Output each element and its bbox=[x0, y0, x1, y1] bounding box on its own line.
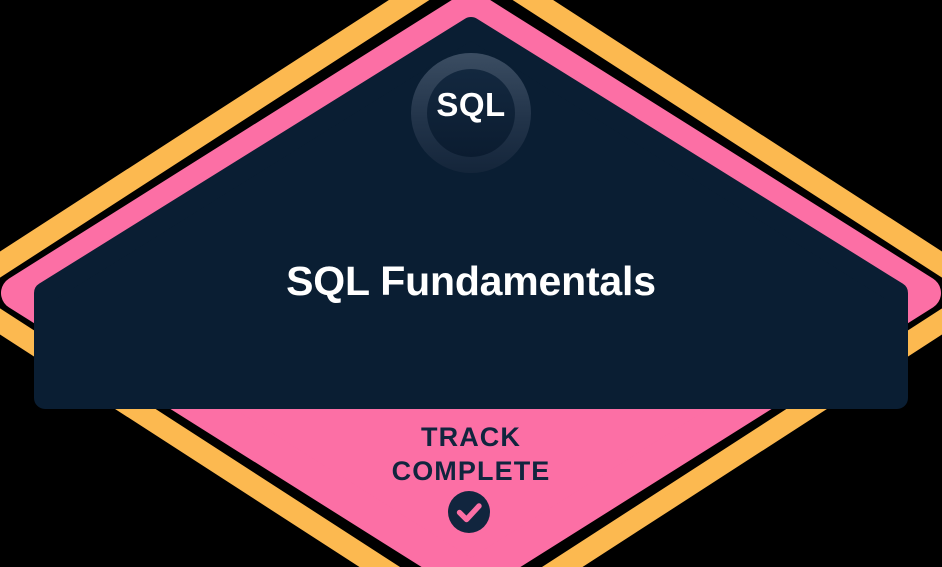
achievement-badge: SQL SQL Fundamentals TRACK COMPLETE bbox=[0, 0, 942, 567]
sql-chip-core bbox=[427, 69, 515, 157]
badge-graphic bbox=[0, 0, 942, 567]
check-circle-icon bbox=[448, 491, 490, 533]
